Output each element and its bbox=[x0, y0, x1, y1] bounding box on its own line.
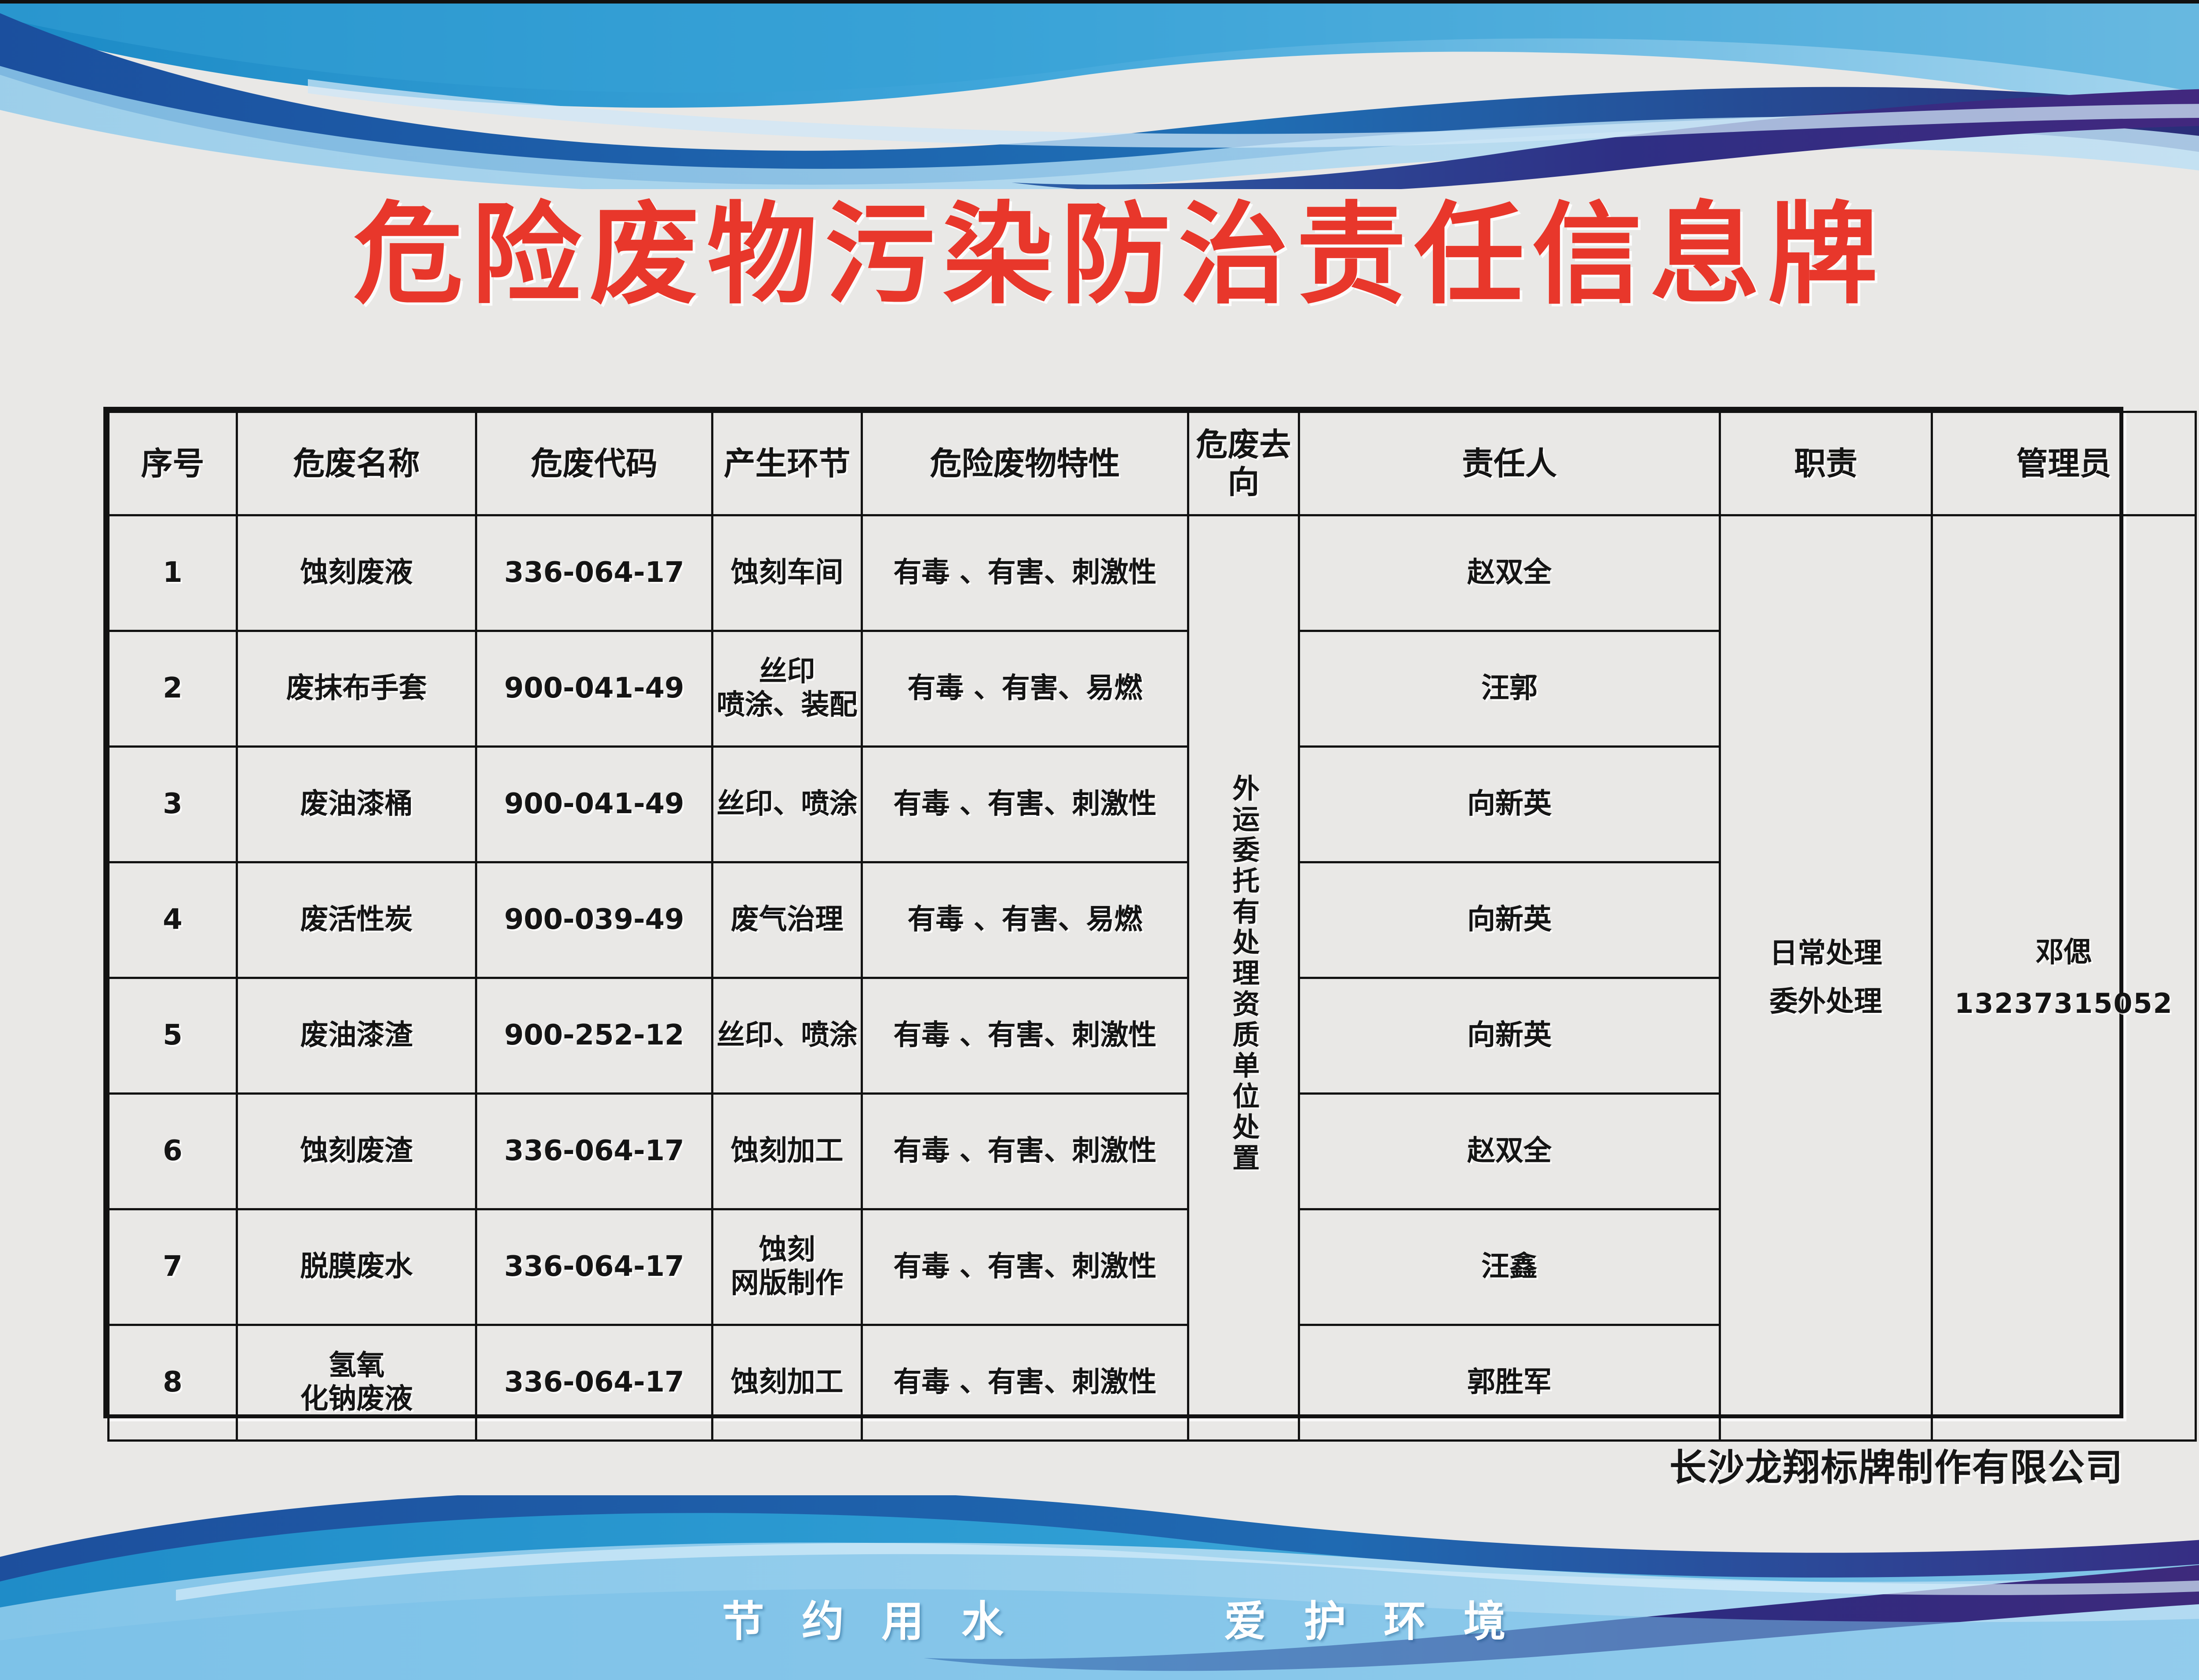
cell-properties: 有毒 、有害、易燃 bbox=[862, 862, 1188, 978]
cell-code: 336-064-17 bbox=[476, 515, 712, 631]
cell-code: 336-064-17 bbox=[476, 1209, 712, 1325]
cell-name: 废油漆桶 bbox=[237, 747, 476, 862]
responsible-person: 赵双全 bbox=[1300, 516, 1719, 632]
cell-properties: 有毒 、有害、刺激性 bbox=[862, 978, 1188, 1094]
cell-stage: 蚀刻加工 bbox=[712, 1325, 862, 1441]
cell-stage: 丝印 喷涂、装配 bbox=[712, 631, 862, 747]
header-duty: 职责 bbox=[1720, 412, 1932, 515]
cell-properties: 有毒 、有害、刺激性 bbox=[862, 1094, 1188, 1209]
cell-index: 8 bbox=[109, 1325, 237, 1441]
table-row: 1 蚀刻废液 336-064-17 蚀刻车间 有毒 、有害、刺激性 外运委托有处… bbox=[109, 515, 2196, 631]
cell-index: 4 bbox=[109, 862, 237, 978]
header-waste-code: 危废代码 bbox=[476, 412, 712, 515]
header-destination: 危废去向 bbox=[1188, 412, 1299, 515]
manager-name: 邓偲 bbox=[1936, 936, 2192, 970]
responsible-person: 向新英 bbox=[1300, 979, 1719, 1095]
cell-index: 5 bbox=[109, 978, 237, 1094]
cell-duty: 日常处理 委外处理 bbox=[1720, 515, 1932, 1441]
cell-name: 蚀刻废液 bbox=[237, 515, 476, 631]
cell-responsible-stack: 赵双全 汪郭 向新英 向新英 向新英 赵双全 汪鑫 郭胜军 bbox=[1299, 515, 1720, 1441]
table-header-row: 序号 危废名称 危废代码 产生环节 危险废物特性 危废去向 责任人 职责 管理员 bbox=[109, 412, 2196, 515]
cell-index: 3 bbox=[109, 747, 237, 862]
cell-stage: 丝印、喷涂 bbox=[712, 978, 862, 1094]
name-line-1: 氢氧 bbox=[241, 1349, 472, 1383]
blue-wave-band-top bbox=[0, 0, 2199, 189]
information-board: 危险废物污染防治责任信息牌 序号 危废名称 危废代码 产生环节 危险废物特性 危… bbox=[0, 0, 2199, 1680]
hazardous-waste-table: 序号 危废名称 危废代码 产生环节 危险废物特性 危废去向 责任人 职责 管理员… bbox=[107, 411, 2197, 1442]
cell-index: 7 bbox=[109, 1209, 237, 1325]
cell-code: 900-041-49 bbox=[476, 747, 712, 862]
header-properties: 危险废物特性 bbox=[862, 412, 1188, 515]
stage-line-2: 网版制作 bbox=[716, 1267, 858, 1300]
header-responsible: 责任人 bbox=[1299, 412, 1720, 515]
name-line-2: 化钠废液 bbox=[241, 1383, 472, 1416]
duty-line-1: 日常处理 bbox=[1724, 937, 1928, 971]
manager-phone: 13237315052 bbox=[1936, 987, 2192, 1019]
company-name: 长沙龙翔标牌制作有限公司 bbox=[0, 1438, 2123, 1491]
cell-destination: 外运委托有处理资质单位处置 bbox=[1188, 515, 1299, 1441]
slogan-text: 节 约 用 水 爱 护 环 境 bbox=[0, 1587, 2199, 1648]
hazardous-waste-table-wrapper: 序号 危废名称 危废代码 产生环节 危险废物特性 危废去向 责任人 职责 管理员… bbox=[103, 407, 2123, 1418]
cell-index: 6 bbox=[109, 1094, 237, 1209]
cell-stage: 废气治理 bbox=[712, 862, 862, 978]
cell-stage: 蚀刻加工 bbox=[712, 1094, 862, 1209]
responsible-person: 向新英 bbox=[1300, 748, 1719, 863]
cell-properties: 有毒 、有害、易燃 bbox=[862, 631, 1188, 747]
cell-name: 蚀刻废渣 bbox=[237, 1094, 476, 1209]
responsible-person: 汪郭 bbox=[1300, 632, 1719, 748]
responsible-person-stack: 赵双全 汪郭 向新英 向新英 向新英 赵双全 汪鑫 郭胜军 bbox=[1300, 516, 1719, 1439]
cell-manager: 邓偲 13237315052 bbox=[1932, 515, 2196, 1441]
cell-properties: 有毒 、有害、刺激性 bbox=[862, 1325, 1188, 1441]
cell-code: 336-064-17 bbox=[476, 1325, 712, 1441]
header-manager: 管理员 bbox=[1932, 412, 2196, 515]
responsible-person: 向新英 bbox=[1300, 863, 1719, 979]
page-title: 危险废物污染防治责任信息牌 bbox=[0, 200, 2199, 310]
duty-line-2: 委外处理 bbox=[1724, 986, 1928, 1019]
cell-code: 336-064-17 bbox=[476, 1094, 712, 1209]
cell-name: 脱膜废水 bbox=[237, 1209, 476, 1325]
cell-name: 废活性炭 bbox=[237, 862, 476, 978]
cell-index: 1 bbox=[109, 515, 237, 631]
cell-name: 废抹布手套 bbox=[237, 631, 476, 747]
cell-code: 900-041-49 bbox=[476, 631, 712, 747]
stage-line-2: 喷涂、装配 bbox=[716, 689, 858, 722]
cell-stage: 蚀刻 网版制作 bbox=[712, 1209, 862, 1325]
stage-line-1: 丝印 bbox=[716, 655, 858, 689]
responsible-person: 郭胜军 bbox=[1300, 1326, 1719, 1439]
cell-name: 氢氧 化钠废液 bbox=[237, 1325, 476, 1441]
cell-name: 废油漆渣 bbox=[237, 978, 476, 1094]
responsible-person: 汪鑫 bbox=[1300, 1210, 1719, 1326]
cell-stage: 蚀刻车间 bbox=[712, 515, 862, 631]
cell-stage: 丝印、喷涂 bbox=[712, 747, 862, 862]
cell-index: 2 bbox=[109, 631, 237, 747]
destination-text: 外运委托有处理资质单位处置 bbox=[1227, 774, 1261, 1174]
header-waste-name: 危废名称 bbox=[237, 412, 476, 515]
header-index: 序号 bbox=[109, 412, 237, 515]
cell-properties: 有毒 、有害、刺激性 bbox=[862, 1209, 1188, 1325]
cell-code: 900-039-49 bbox=[476, 862, 712, 978]
cell-properties: 有毒 、有害、刺激性 bbox=[862, 747, 1188, 862]
stage-line-1: 蚀刻 bbox=[716, 1234, 858, 1267]
responsible-person: 赵双全 bbox=[1300, 1095, 1719, 1210]
cell-properties: 有毒 、有害、刺激性 bbox=[862, 515, 1188, 631]
header-stage: 产生环节 bbox=[712, 412, 862, 515]
cell-code: 900-252-12 bbox=[476, 978, 712, 1094]
